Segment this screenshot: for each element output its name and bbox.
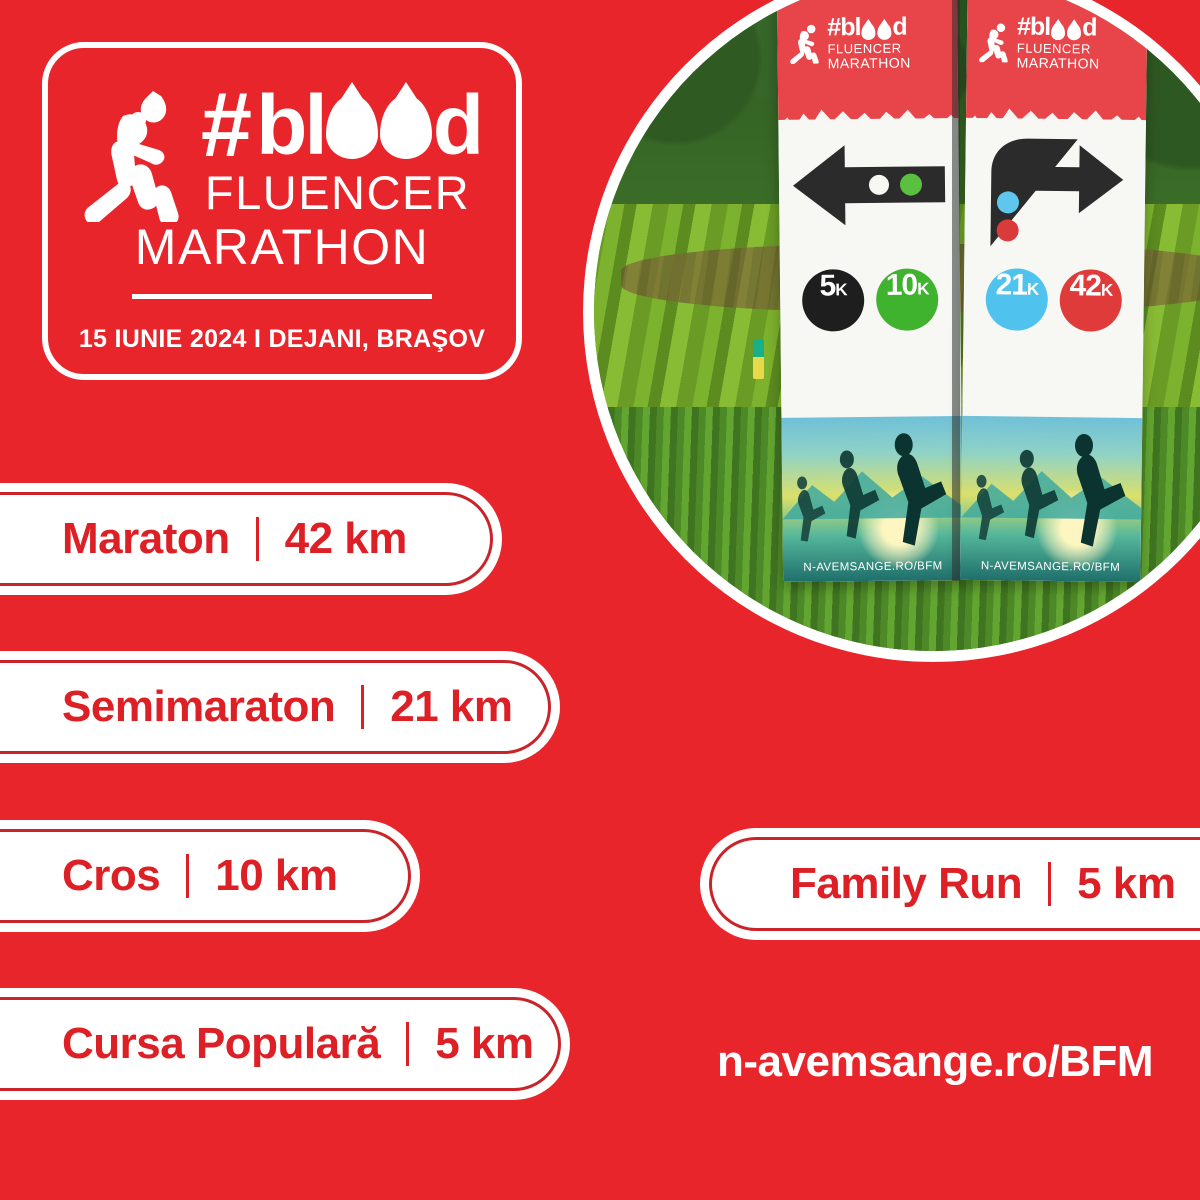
race-pill-maraton-text: Maraton 42 km bbox=[62, 514, 407, 564]
badge-42k-number: 42 bbox=[1069, 269, 1101, 303]
race-distance: 42 km bbox=[285, 514, 407, 564]
race-distance: 5 km bbox=[435, 1019, 533, 1069]
banner-right-d: d bbox=[1082, 15, 1097, 40]
race-divider bbox=[361, 685, 364, 729]
badge-5k-unit: K bbox=[835, 280, 846, 300]
brand-wordmark: # bl d FLUENCER bbox=[201, 88, 481, 220]
race-name: Cursa Populară bbox=[62, 1019, 380, 1069]
banner-left-runner-silhouettes bbox=[782, 430, 963, 560]
banner-seam bbox=[952, 0, 960, 581]
race-name: Family Run bbox=[790, 859, 1022, 909]
banner-left: # bl d FLUENCER MARATHON bbox=[777, 0, 963, 582]
race-pill-semimaraton[interactable]: Semimaraton 21 km bbox=[0, 651, 560, 763]
blood-drop-o2-icon bbox=[380, 95, 432, 159]
badge-10k-number: 10 bbox=[886, 269, 918, 303]
badge-42k: 42K bbox=[1059, 269, 1122, 332]
banner-left-logo: # bl d FLUENCER MARATHON bbox=[777, 0, 958, 71]
event-date-location: 15 IUNIE 2024 I DEJANI, BRAŞOV bbox=[79, 325, 485, 354]
blood-d: d bbox=[433, 92, 481, 159]
race-name: Cros bbox=[62, 851, 160, 901]
banner-left-marathon: MARATHON bbox=[828, 56, 911, 71]
race-distance: 5 km bbox=[1077, 859, 1175, 909]
header-card: # bl d FLUENCER MARATHON 15 IUNIE 2024 I… bbox=[42, 42, 522, 380]
race-pill-cursa-populara-inner: Cursa Populară 5 km bbox=[0, 997, 561, 1091]
logo-line-fluencer: FLUENCER bbox=[205, 165, 470, 220]
banner-right-drop2-icon bbox=[1067, 23, 1081, 40]
banner-left-drop1-icon bbox=[861, 23, 875, 40]
banner-left-hash: # bbox=[827, 15, 840, 40]
banner-right-fluencer: FLUENCER bbox=[1017, 42, 1100, 56]
blood-drop-o1-icon bbox=[326, 95, 378, 159]
website-url[interactable]: n-avemsange.ro/BFM bbox=[700, 1037, 1170, 1087]
banner-left-drop2-icon bbox=[877, 23, 891, 40]
race-pill-semimaraton-text: Semimaraton 21 km bbox=[62, 682, 513, 732]
race-pill-cursa-populara-text: Cursa Populară 5 km bbox=[62, 1019, 534, 1069]
word-blood: bl d bbox=[256, 92, 481, 159]
badge-5k-number: 5 bbox=[819, 269, 835, 303]
banner-right-bl: bl bbox=[1030, 15, 1051, 40]
arrow-left-icon bbox=[786, 130, 951, 240]
course-banners-photo: # bl d FLUENCER MARATHON bbox=[583, 0, 1200, 662]
blood-bl: bl bbox=[256, 92, 325, 159]
banner-left-badges: 5K 10K bbox=[780, 268, 961, 332]
race-pill-cros-inner: Cros 10 km bbox=[0, 829, 411, 923]
badge-21k-number: 21 bbox=[995, 268, 1027, 302]
race-pill-cursa-populara[interactable]: Cursa Populară 5 km bbox=[0, 988, 570, 1100]
banner-left-bl: bl bbox=[840, 15, 860, 40]
photo-trail-marker bbox=[753, 339, 764, 379]
badge-10k-unit: K bbox=[917, 279, 928, 299]
badge-5k: 5K bbox=[802, 269, 865, 332]
banner-right-drop1-icon bbox=[1051, 23, 1065, 40]
banner-left-header: # bl d FLUENCER MARATHON bbox=[777, 0, 958, 120]
race-pill-family-run[interactable]: Family Run 5 km bbox=[700, 828, 1200, 940]
logo-line-marathon: MARATHON bbox=[135, 218, 429, 276]
race-pill-family-run-text: Family Run 5 km bbox=[790, 859, 1175, 909]
banner-right-artwork: N-AVEMSANGE.RO/BFM bbox=[960, 416, 1142, 582]
banner-right: # bl d FLUENCER MARATHON bbox=[960, 0, 1147, 582]
arrow-turn-right-icon bbox=[972, 130, 1137, 250]
race-name: Semimaraton bbox=[62, 682, 335, 732]
hashtag-glyph: # bbox=[201, 88, 250, 163]
race-divider bbox=[1048, 862, 1051, 906]
banner-right-badges: 21K 42K bbox=[963, 268, 1144, 332]
race-pill-semimaraton-inner: Semimaraton 21 km bbox=[0, 660, 551, 754]
race-divider bbox=[186, 854, 189, 898]
photo-image: # bl d FLUENCER MARATHON bbox=[594, 0, 1200, 651]
brand-logo: # bl d FLUENCER bbox=[83, 86, 481, 222]
badge-42k-unit: K bbox=[1101, 281, 1113, 301]
race-name: Maraton bbox=[62, 514, 230, 564]
badge-21k-unit: K bbox=[1027, 280, 1039, 300]
race-pill-maraton[interactable]: Maraton 42 km bbox=[0, 483, 502, 595]
banner-left-url: N-AVEMSANGE.RO/BFM bbox=[783, 560, 963, 574]
logo-divider-rule bbox=[132, 294, 432, 299]
banner-left-d: d bbox=[892, 15, 907, 40]
race-pill-maraton-inner: Maraton 42 km bbox=[0, 492, 493, 586]
banner-right-body: 21K 42K bbox=[962, 118, 1146, 420]
badge-10k: 10K bbox=[876, 268, 939, 331]
race-pill-family-run-inner: Family Run 5 km bbox=[709, 837, 1200, 931]
banner-right-url: N-AVEMSANGE.RO/BFM bbox=[960, 560, 1140, 574]
poster-canvas: # bl d FLUENCER MARATHON 15 IUNIE 2024 I… bbox=[0, 0, 1200, 1200]
race-divider bbox=[406, 1022, 409, 1066]
banner-left-fluencer: FLUENCER bbox=[827, 42, 910, 56]
banner-left-body: 5K 10K bbox=[778, 118, 961, 420]
banner-right-hash: # bbox=[1017, 15, 1030, 40]
race-pill-cros[interactable]: Cros 10 km bbox=[0, 820, 420, 932]
running-person-blood-drop-icon bbox=[83, 90, 195, 222]
running-person-icon bbox=[789, 23, 823, 63]
banner-right-header: # bl d FLUENCER MARATHON bbox=[966, 0, 1148, 120]
badge-21k: 21K bbox=[985, 268, 1048, 331]
race-pill-cros-text: Cros 10 km bbox=[62, 851, 338, 901]
running-person-icon bbox=[979, 22, 1013, 62]
race-divider bbox=[256, 517, 259, 561]
banner-right-runner-silhouettes bbox=[961, 430, 1143, 560]
race-distance: 21 km bbox=[390, 682, 512, 732]
banner-right-marathon: MARATHON bbox=[1017, 56, 1100, 71]
banner-left-artwork: N-AVEMSANGE.RO/BFM bbox=[781, 416, 963, 582]
banner-right-logo: # bl d FLUENCER MARATHON bbox=[967, 0, 1148, 71]
race-distance: 10 km bbox=[215, 851, 337, 901]
